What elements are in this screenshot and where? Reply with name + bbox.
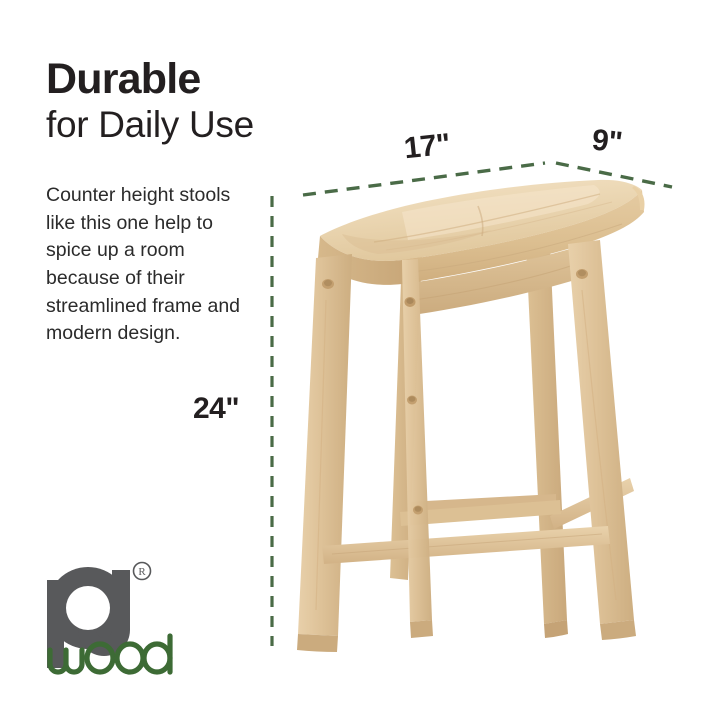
body-paragraph: Counter height stools like this one help… [46,182,246,348]
dimension-label-depth: 9" [590,124,623,161]
leg-front-right [568,240,636,640]
leg-front-left [297,254,352,652]
dimension-label-width: 17" [402,128,451,167]
center-brace [402,259,433,638]
page-title: Durable [46,58,276,102]
infographic-page: Durable for Daily Use Counter height sto… [0,0,720,720]
leg-back-right [526,246,568,638]
registered-trademark-icon: R [134,563,151,580]
heading-block: Durable for Daily Use [46,58,276,145]
brand-logo: R [42,558,217,683]
product-illustration [282,150,682,670]
svg-text:R: R [138,566,146,578]
page-subtitle: for Daily Use [46,104,276,145]
dimension-label-height: 24" [193,392,239,426]
stretcher-front-low [322,526,610,564]
